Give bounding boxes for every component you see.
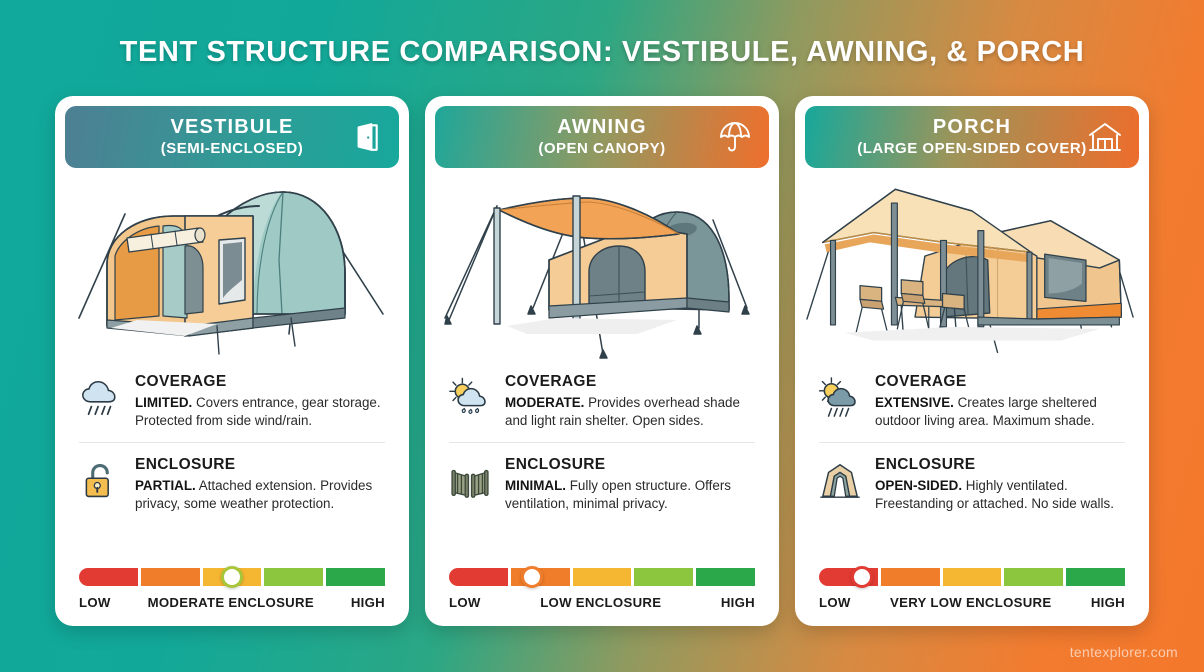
gauge-low-label: LOW [449,595,481,610]
watermark: tentexplorer.com [1070,644,1178,660]
enclosure-gauge[interactable] [79,568,385,586]
feature-enclosure: ENCLOSURE PARTIAL. Attached extension. P… [79,442,385,525]
feature-lead: OPEN-SIDED. [875,478,962,493]
gauge-caption: VERY LOW ENCLOSURE [851,595,1091,610]
gauge-segment [573,568,632,586]
feature-label: COVERAGE [875,373,1125,391]
feature-description: MODERATE. Provides overhead shade and li… [505,394,755,429]
gauge-labels: LOW VERY LOW ENCLOSURE HIGH [819,595,1125,610]
gauge-caption: MODERATE ENCLOSURE [111,595,351,610]
gauge-segment [449,568,508,586]
gauge-segment [141,568,200,586]
arch-tunnel-icon [819,457,861,505]
card-header-titles: AWNING (OPEN CANOPY) [538,117,665,157]
enclosure-gauge[interactable] [819,568,1125,586]
card-subtitle: (LARGE OPEN-SIDED COVER) [857,141,1087,157]
feature-text: ENCLOSURE MINIMAL. Fully open structure.… [505,455,755,512]
sun-behind-rain-cloud-icon [819,374,861,422]
feature-description: EXTENSIVE. Creates large sheltered outdo… [875,394,1125,429]
feature-label: ENCLOSURE [505,456,755,474]
gauge-segment [634,568,693,586]
feature-text: ENCLOSURE OPEN-SIDED. Highly ventilated.… [875,455,1125,512]
feature-enclosure: ENCLOSURE OPEN-SIDED. Highly ventilated.… [819,442,1125,525]
feature-description: MINIMAL. Fully open structure. Offers ve… [505,477,755,512]
gauge-block-porch: LOW VERY LOW ENCLOSURE HIGH [805,568,1139,626]
rain-cloud-icon [79,374,121,422]
feature-label: COVERAGE [135,373,385,391]
features-awning: COVERAGE MODERATE. Provides overhead sha… [435,360,769,526]
feature-description: LIMITED. Covers entrance, gear storage. … [135,394,385,429]
gauge-high-label: HIGH [1091,595,1125,610]
feature-label: ENCLOSURE [135,456,385,474]
gauge-low-label: LOW [819,595,851,610]
open-door-icon [345,117,385,157]
gauge-high-label: HIGH [721,595,755,610]
open-gate-icon [449,457,491,505]
card-header-vestibule: VESTIBULE (SEMI-ENCLOSED) [65,106,399,168]
card-title: AWNING [538,117,665,139]
gauge-marker[interactable] [221,566,243,588]
feature-lead: MINIMAL. [505,478,566,493]
dome-tent-with-vestibule-illustration [65,168,399,360]
card-porch: PORCH (LARGE OPEN-SIDED COVER) [795,96,1149,626]
feature-text: COVERAGE EXTENSIVE. Creates large shelte… [875,372,1125,429]
gauge-marker[interactable] [521,566,543,588]
feature-lead: EXTENSIVE. [875,395,954,410]
gauge-segment [696,568,755,586]
tent-with-awning-canopy-illustration [435,168,769,360]
gauge-labels: LOW LOW ENCLOSURE HIGH [449,595,755,610]
feature-coverage: COVERAGE EXTENSIVE. Creates large shelte… [819,360,1125,442]
gauge-block-vestibule: LOW MODERATE ENCLOSURE HIGH [65,568,399,626]
sun-behind-rain-cloud-icon [449,374,491,422]
gauge-segment [1004,568,1063,586]
page-title: TENT STRUCTURE COMPARISON: VESTIBULE, AW… [0,36,1204,69]
card-vestibule: VESTIBULE (SEMI-ENCLOSED) [55,96,409,626]
feature-lead: LIMITED. [135,395,192,410]
feature-text: ENCLOSURE PARTIAL. Attached extension. P… [135,455,385,512]
card-header-titles: VESTIBULE (SEMI-ENCLOSED) [161,117,304,157]
feature-coverage: COVERAGE LIMITED. Covers entrance, gear … [79,360,385,442]
feature-text: COVERAGE LIMITED. Covers entrance, gear … [135,372,385,429]
gauge-segment [326,568,385,586]
open-padlock-icon [79,457,121,505]
gauge-marker[interactable] [851,566,873,588]
card-subtitle: (OPEN CANOPY) [538,141,665,157]
gauge-caption: LOW ENCLOSURE [481,595,721,610]
card-header-awning: AWNING (OPEN CANOPY) [435,106,769,168]
gauge-labels: LOW MODERATE ENCLOSURE HIGH [79,595,385,610]
gauge-segment [881,568,940,586]
feature-label: COVERAGE [505,373,755,391]
feature-lead: PARTIAL. [135,478,196,493]
large-tent-with-porch-illustration [805,168,1139,360]
card-title: VESTIBULE [161,117,304,139]
card-subtitle: (SEMI-ENCLOSED) [161,141,304,157]
feature-enclosure: ENCLOSURE MINIMAL. Fully open structure.… [449,442,755,525]
gauge-low-label: LOW [79,595,111,610]
gauge-block-awning: LOW LOW ENCLOSURE HIGH [435,568,769,626]
feature-coverage: COVERAGE MODERATE. Provides overhead sha… [449,360,755,442]
card-title: PORCH [857,117,1087,139]
feature-lead: MODERATE. [505,395,584,410]
gauge-segment [264,568,323,586]
gauge-segment [943,568,1002,586]
features-vestibule: COVERAGE LIMITED. Covers entrance, gear … [65,360,399,526]
features-porch: COVERAGE EXTENSIVE. Creates large shelte… [805,360,1139,526]
enclosure-gauge[interactable] [449,568,755,586]
comparison-cards: VESTIBULE (SEMI-ENCLOSED) [55,96,1149,626]
gauge-segment [1066,568,1125,586]
umbrella-icon [715,117,755,157]
feature-text: COVERAGE MODERATE. Provides overhead sha… [505,372,755,429]
gauge-high-label: HIGH [351,595,385,610]
feature-description: OPEN-SIDED. Highly ventilated. Freestand… [875,477,1125,512]
feature-description: PARTIAL. Attached extension. Provides pr… [135,477,385,512]
card-awning: AWNING (OPEN CANOPY) [425,96,779,626]
card-header-porch: PORCH (LARGE OPEN-SIDED COVER) [805,106,1139,168]
porch-house-icon [1085,117,1125,157]
feature-label: ENCLOSURE [875,456,1125,474]
card-header-titles: PORCH (LARGE OPEN-SIDED COVER) [857,117,1087,157]
gauge-segment [79,568,138,586]
